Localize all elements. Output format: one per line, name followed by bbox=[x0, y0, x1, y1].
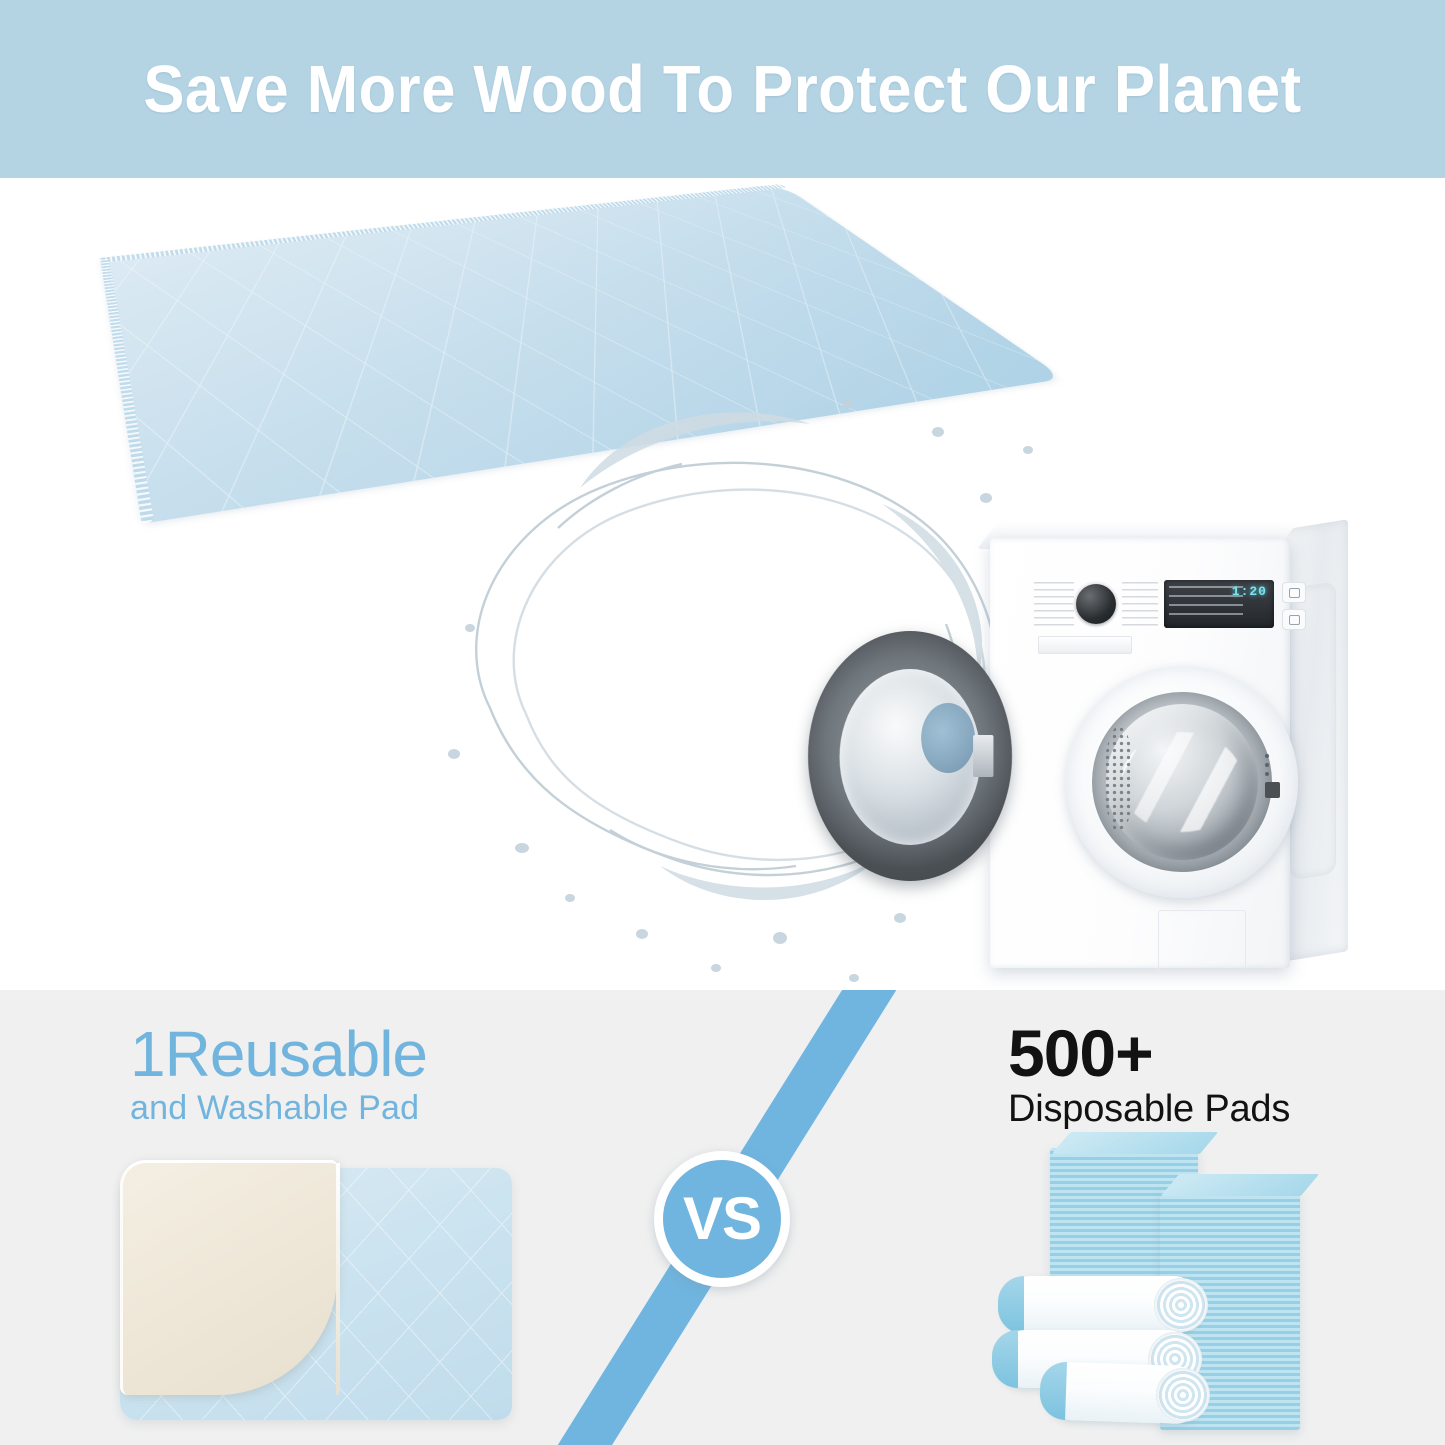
left-subline: and Washable Pad bbox=[130, 1087, 427, 1130]
rolled-pad bbox=[1043, 1361, 1205, 1425]
header-banner: Save More Wood To Protect Our Planet bbox=[0, 0, 1445, 178]
vs-label: VS bbox=[683, 1189, 761, 1249]
panel-buttons[interactable] bbox=[1282, 582, 1310, 628]
hero-section: 1:20 bbox=[0, 178, 1445, 990]
washer-open-door[interactable] bbox=[808, 631, 1012, 881]
door-sensor-dots bbox=[1265, 754, 1270, 772]
door-hinge bbox=[973, 735, 993, 777]
pad-layer-top bbox=[100, 184, 1064, 524]
vs-badge: VS bbox=[654, 1151, 790, 1287]
control-panel[interactable]: 1:20 bbox=[1034, 580, 1312, 628]
stack-top-face bbox=[1161, 1174, 1319, 1196]
program-labels-left bbox=[1034, 582, 1074, 626]
stack-top-face bbox=[1052, 1132, 1218, 1154]
reusable-pad-image bbox=[120, 1160, 520, 1430]
drum-perforations bbox=[1104, 726, 1134, 832]
door-glass bbox=[840, 669, 981, 845]
door-ring bbox=[1066, 666, 1298, 898]
drum-outer bbox=[1092, 692, 1272, 872]
washing-machine: 1:20 bbox=[960, 513, 1350, 983]
left-comparison-heading: 1Reusable and Washable Pad bbox=[130, 1022, 427, 1130]
quilt-pattern bbox=[100, 184, 1064, 524]
left-headline: 1Reusable bbox=[130, 1022, 427, 1087]
rolled-pad bbox=[1002, 1276, 1202, 1334]
right-comparison-heading: 500+ Disposable Pads bbox=[1008, 1020, 1290, 1133]
power-button-icon[interactable] bbox=[1282, 582, 1306, 603]
door-latch-icon bbox=[1265, 782, 1280, 798]
right-headline: 500+ bbox=[1008, 1020, 1290, 1087]
lcd-display: 1:20 bbox=[1164, 580, 1274, 628]
disposable-pads-image bbox=[1010, 1148, 1310, 1438]
washer-body: 1:20 bbox=[990, 538, 1290, 968]
detergent-drawer[interactable] bbox=[1038, 636, 1132, 654]
lcd-time-value: 1:20 bbox=[1232, 584, 1267, 599]
start-button-icon[interactable] bbox=[1282, 609, 1306, 630]
page-title: Save More Wood To Protect Our Planet bbox=[143, 56, 1301, 123]
program-dial[interactable] bbox=[1076, 584, 1116, 624]
program-labels-right bbox=[1122, 582, 1158, 626]
product-infographic: Save More Wood To Protect Our Planet bbox=[0, 0, 1445, 1445]
filter-hatch[interactable] bbox=[1158, 910, 1246, 972]
folded-reusable-pad bbox=[60, 238, 920, 758]
right-subline: Disposable Pads bbox=[1008, 1087, 1290, 1133]
